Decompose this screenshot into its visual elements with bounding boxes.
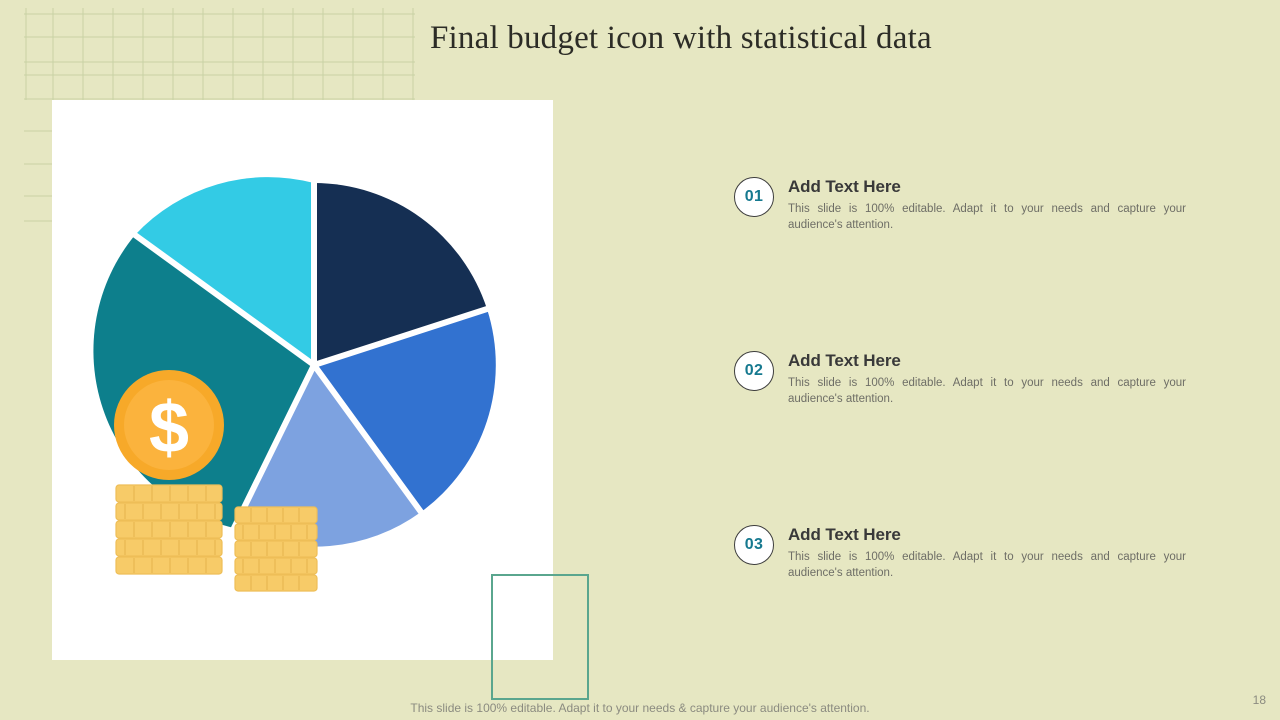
page-title: Final budget icon with statistical data [430,20,1250,57]
item-heading: Add Text Here [788,525,1186,545]
svg-text:$: $ [149,388,189,468]
item-body: Add Text Here This slide is 100% editabl… [788,176,1186,233]
coin-stack-right [235,507,317,591]
list-item[interactable]: 02 Add Text Here This slide is 100% edit… [734,350,1186,407]
item-number-badge: 01 [734,177,774,217]
item-heading: Add Text Here [788,351,1186,371]
item-body: Add Text Here This slide is 100% editabl… [788,350,1186,407]
content-list: 01 Add Text Here This slide is 100% edit… [734,176,1186,581]
dollar-coin-icon: $ [114,370,224,480]
coin-stack-left [116,485,222,574]
list-item[interactable]: 01 Add Text Here This slide is 100% edit… [734,176,1186,233]
accent-rectangle [491,574,589,700]
item-number-badge: 02 [734,351,774,391]
item-description: This slide is 100% editable. Adapt it to… [788,375,1186,407]
pie-chart-graphic: $ [52,100,553,660]
page-number: 18 [1253,693,1266,707]
item-body: Add Text Here This slide is 100% editabl… [788,524,1186,581]
item-number-badge: 03 [734,525,774,565]
visual-card: $ [52,100,553,660]
footer-note: This slide is 100% editable. Adapt it to… [0,701,1280,715]
item-description: This slide is 100% editable. Adapt it to… [788,201,1186,233]
item-description: This slide is 100% editable. Adapt it to… [788,549,1186,581]
list-item[interactable]: 03 Add Text Here This slide is 100% edit… [734,524,1186,581]
item-heading: Add Text Here [788,177,1186,197]
